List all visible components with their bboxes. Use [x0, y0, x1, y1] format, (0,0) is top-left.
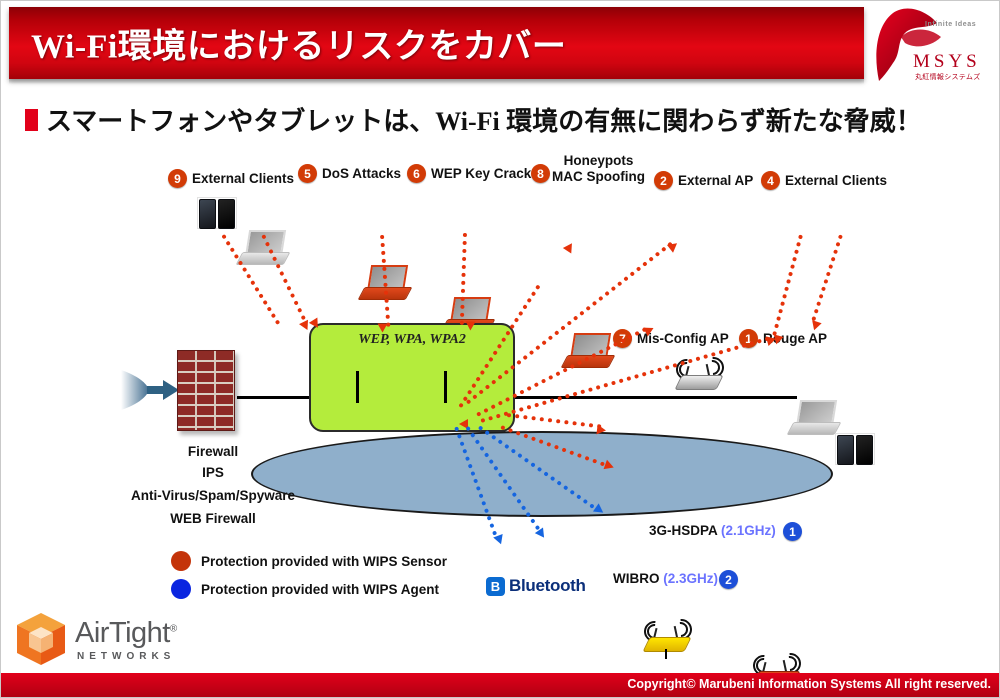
legend-label-sensor: Protection provided with WIPS Sensor: [201, 554, 447, 569]
bluetooth-icon: B: [486, 577, 505, 596]
airtight-cube-icon: [13, 611, 69, 669]
sensor-arrow-12: [596, 424, 606, 435]
secure-zone-label: WEP, WPA, WPA2: [311, 332, 513, 348]
label-honeypots-line1: Honeypots: [552, 153, 645, 169]
msys-name: MSYS: [913, 51, 981, 73]
sensor-arrow-5: [563, 241, 576, 254]
legend-dot-agent-icon: [171, 579, 191, 599]
badge-agent-2: 2: [719, 570, 738, 589]
badge-2: 2: [654, 171, 673, 190]
device-external-client-phones-left: [197, 197, 237, 229]
badge-5: 5: [298, 164, 317, 183]
label-3g-name: 3G-HSDPA: [649, 523, 717, 538]
label-wibro: WIBRO (2.3GHz): [613, 571, 718, 586]
legend-item-agent: Protection provided with WIPS Agent: [171, 579, 439, 599]
bluetooth-label: Bluetooth: [509, 576, 586, 596]
airtight-name: AirTight®: [75, 617, 177, 650]
drop-line-ap1: [356, 371, 359, 403]
badge-agent-1: 1: [783, 522, 802, 541]
label-wibro-name: WIBRO: [613, 571, 660, 586]
msys-tagline: Infinite Ideas: [925, 21, 976, 28]
label-external-clients-right: External Clients: [785, 173, 887, 188]
airtight-registered-mark: ®: [170, 623, 177, 634]
airtight-name-text: AirTight: [75, 617, 170, 649]
label-dos-attacks: DoS Attacks: [322, 166, 401, 181]
header-shadow: [9, 79, 864, 84]
device-external-client-phones-right: [835, 433, 875, 465]
bluetooth-brand: B Bluetooth: [486, 576, 586, 596]
header-banner: Wi-Fi環境におけるリスクをカバー: [9, 7, 864, 79]
label-wep-key-crack: WEP Key Crack: [431, 166, 531, 181]
footer-bar: Copyright© Marubeni Information Systems …: [1, 673, 1000, 697]
sensor-link-cloud-laptop: [507, 413, 602, 429]
airtight-subtitle: NETWORKS: [77, 651, 175, 662]
subtitle-text: スマートフォンやタブレットは、Wi-Fi 環境の有無に関わらず新たな脅威！: [46, 101, 922, 138]
legend-item-sensor: Protection provided with WIPS Sensor: [171, 551, 447, 571]
traffic-inflow-arrow-icon: [119, 366, 181, 414]
label-external-clients-left: External Clients: [192, 171, 294, 186]
firewall-label-4: WEB Firewall: [133, 511, 293, 527]
badge-4: 4: [761, 171, 780, 190]
label-external-ap: External AP: [678, 173, 753, 188]
drop-line-ap2: [444, 371, 447, 403]
sensor-arrow-3: [378, 324, 388, 333]
subtitle-bullet-icon: [25, 109, 38, 131]
page-title: Wi-Fi環境におけるリスクをカバー: [31, 19, 566, 68]
label-wibro-freq: (2.3GHz): [663, 571, 718, 586]
subtitle: スマートフォンやタブレットは、Wi-Fi 環境の有無に関わらず新たな脅威！: [25, 101, 922, 138]
slide-canvas: Wi-Fi環境におけるリスクをカバー Infinite Ideas MSYS 丸…: [0, 0, 1000, 698]
badge-9: 9: [168, 169, 187, 188]
firewall-label-1: Firewall: [133, 444, 293, 460]
label-3g-hsdpa: 3G-HSDPA (2.1GHz): [649, 523, 776, 538]
sensor-link-clients-right-a: [811, 234, 843, 321]
label-honeypots: Honeypots MAC Spoofing: [552, 153, 645, 185]
footer-copyright: Copyright© Marubeni Information Systems …: [627, 677, 991, 691]
firewall-brick-icon: [177, 350, 235, 431]
sensor-link-clients-right-b: [772, 234, 803, 335]
label-honeypots-line2: MAC Spoofing: [552, 169, 645, 185]
firewall-label-3: Anti-Virus/Spam/Spyware: [113, 488, 313, 504]
badge-8: 8: [531, 164, 550, 183]
sensor-arrow-4: [465, 321, 475, 330]
legend-dot-sensor-icon: [171, 551, 191, 571]
sensor-link-rogue-ap: [480, 336, 769, 423]
label-3g-freq: (2.1GHz): [721, 523, 776, 538]
legend-label-agent: Protection provided with WIPS Agent: [201, 582, 439, 597]
msys-subname: 丸紅情報システムズ: [915, 72, 981, 82]
firewall-label-2: IPS: [133, 465, 293, 481]
airtight-logo: AirTight® NETWORKS: [13, 609, 233, 671]
secure-zone-box: WEP, WPA, WPA2: [309, 323, 515, 432]
agent-arrow-1: [493, 534, 505, 546]
msys-logo: Infinite Ideas MSYS 丸紅情報システムズ: [863, 3, 993, 87]
device-misconfig-ap: [642, 621, 690, 655]
badge-6: 6: [407, 164, 426, 183]
device-external-client-laptop-right: [790, 400, 836, 434]
